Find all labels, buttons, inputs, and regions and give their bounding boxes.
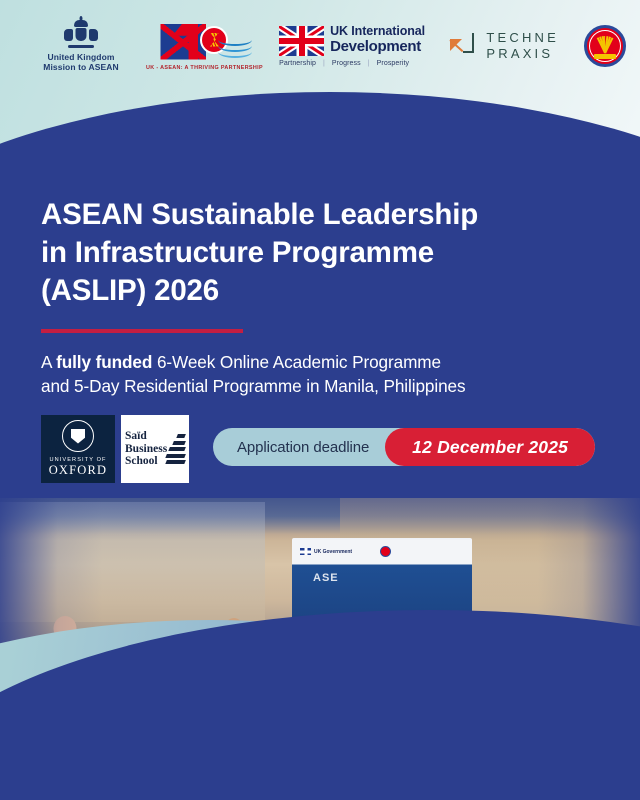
- logo-uk-asean-thriving-partnership: UK - ASEAN: A THRIVING PARTNERSHIP: [146, 22, 263, 71]
- royal-crest-icon: [64, 20, 98, 48]
- ukid-tagline-sep-2: |: [368, 60, 370, 67]
- thriving-partnership-caption: UK - ASEAN: A THRIVING PARTNERSHIP: [146, 65, 263, 71]
- techne-line2: PRAXIS: [486, 46, 559, 62]
- ukid-tagline-progress: Progress: [332, 60, 361, 67]
- sbs-line1: Saïd: [125, 430, 167, 442]
- programme-subtitle: A fully funded 6-Week Online Academic Pr…: [41, 350, 601, 399]
- application-deadline-badge: Application deadline 12 December 2025: [213, 428, 595, 466]
- techne-praxis-arrow-icon: [449, 31, 479, 61]
- headline-line-3: (ASLIP) 2026: [41, 272, 561, 310]
- headline-line-2: in Infrastructure Programme: [41, 234, 561, 272]
- sbs-line3: School: [125, 455, 167, 467]
- logo-techne-praxis: TECHNE PRAXIS: [445, 30, 563, 63]
- logo-university-of-oxford: UNIVERSITY OF OXFORD: [41, 415, 115, 483]
- partner-logo-strip: United Kingdom Mission to ASEAN UK - ASE…: [0, 0, 640, 92]
- ukid-tagline-prosperity: Prosperity: [377, 60, 410, 67]
- ukid-line2: Development: [330, 39, 425, 54]
- subtitle-prefix: A: [41, 352, 56, 372]
- subtitle-suffix: 6-Week Online Academic Programme: [152, 352, 441, 372]
- page-title: ASEAN Sustainable Leadership in Infrastr…: [41, 196, 561, 309]
- subtitle-emphasis: fully funded: [56, 352, 152, 372]
- poster-root: United Kingdom Mission to ASEAN UK - ASE…: [0, 0, 640, 800]
- subtitle-line-1: A fully funded 6-Week Online Academic Pr…: [41, 350, 601, 374]
- uk-mission-line2: Mission to ASEAN: [43, 62, 118, 72]
- ukid-line1: UK International: [330, 25, 425, 38]
- ukid-tagline-partnership: Partnership: [279, 60, 316, 67]
- union-jack-flag-icon: [279, 26, 324, 56]
- logo-uk-international-development: UK International Development Partnership…: [271, 25, 433, 67]
- oxford-line2: OXFORD: [49, 463, 108, 478]
- deadline-date: 12 December 2025: [385, 428, 595, 466]
- deadline-label: Application deadline: [213, 439, 385, 456]
- navy-right-edge-shape: [580, 150, 640, 530]
- oxford-crest-icon: [62, 420, 94, 452]
- asean-emblem-icon: [584, 25, 626, 67]
- techne-line1: TECHNE: [486, 30, 559, 46]
- headline-line-1: ASEAN Sustainable Leadership: [41, 196, 561, 234]
- logo-uk-mission-to-asean: United Kingdom Mission to ASEAN: [22, 20, 140, 72]
- logo-said-business-school: Saïd Business School: [121, 415, 189, 483]
- sbs-line2: Business: [125, 443, 167, 455]
- logo-asean: [569, 25, 640, 67]
- uk-mission-label: United Kingdom Mission to ASEAN: [43, 52, 118, 72]
- subtitle-line-2: and 5-Day Residential Programme in Manil…: [41, 374, 601, 398]
- uk-mission-line1: United Kingdom: [43, 52, 118, 62]
- title-divider-rule: [41, 329, 243, 333]
- ukid-tagline-sep-1: |: [323, 60, 325, 67]
- uk-asean-partnership-icon: [156, 22, 252, 62]
- academic-partner-logos: UNIVERSITY OF OXFORD Saïd Business Schoo…: [41, 415, 189, 483]
- ukid-tagline: Partnership | Progress | Prosperity: [279, 60, 425, 67]
- said-business-school-bars-icon: [170, 434, 185, 464]
